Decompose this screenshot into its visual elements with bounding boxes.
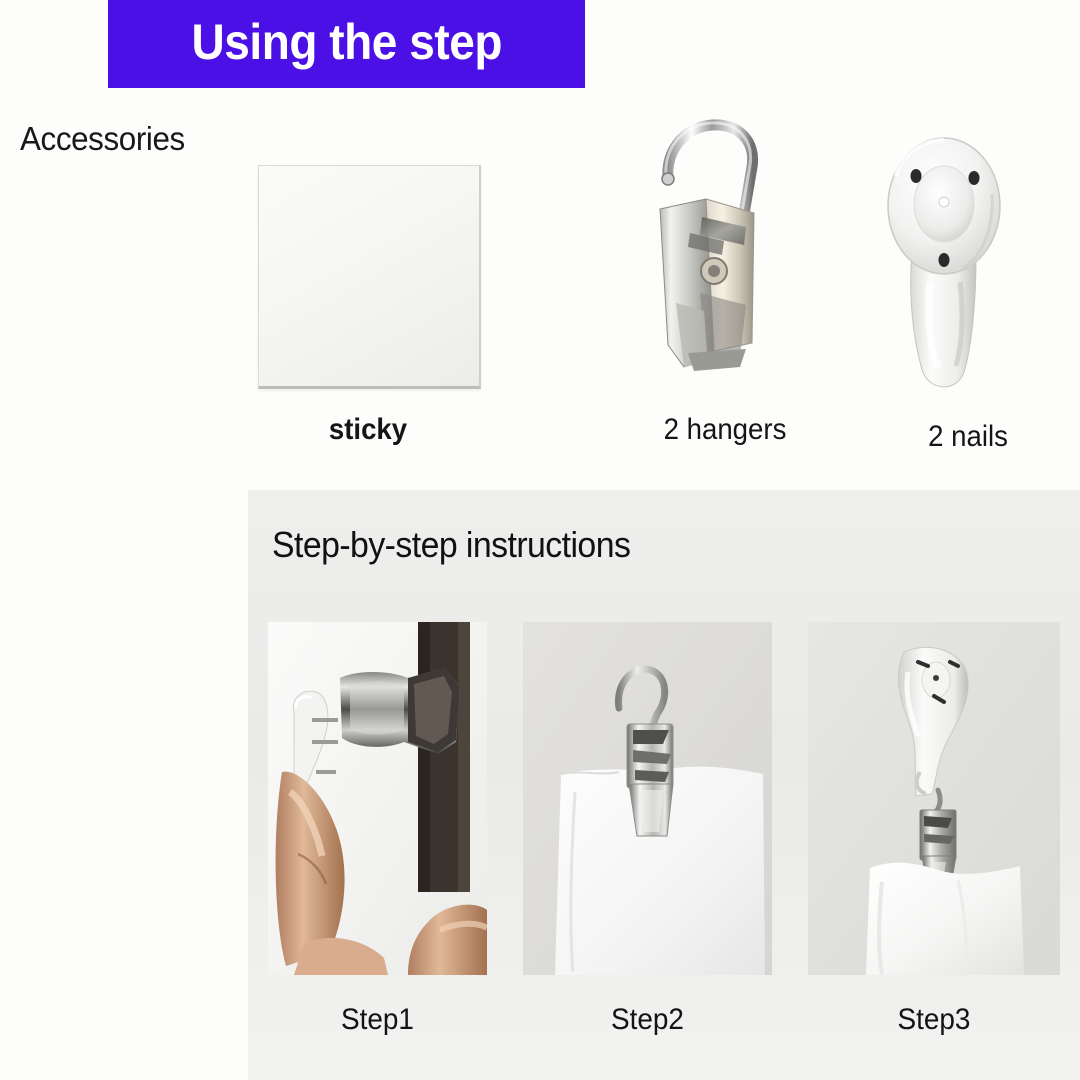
step-photo-3 <box>808 622 1060 975</box>
instructions-section-label: Step-by-step instructions <box>272 524 630 566</box>
page-title: Using the step <box>191 17 501 71</box>
accessory-caption-hangers: 2 hangers <box>633 413 817 447</box>
accessory-caption-sticky: sticky <box>276 413 460 447</box>
title-banner: Using the step <box>108 0 585 88</box>
instruction-sheet: Using the step Accessories sticky <box>0 0 1080 1080</box>
step-photo-1 <box>268 622 487 975</box>
adhesive-pad-icon <box>258 165 481 389</box>
step-photo-2 <box>523 622 772 975</box>
metal-hanger-clip-icon <box>628 105 818 400</box>
accessories-section-label: Accessories <box>20 120 185 158</box>
step-caption-2: Step2 <box>532 1003 764 1037</box>
step-caption-3: Step3 <box>817 1003 1051 1037</box>
step-caption-1: Step1 <box>276 1003 480 1037</box>
white-wall-hook-icon <box>872 132 1042 397</box>
accessory-caption-nails: 2 nails <box>885 420 1051 454</box>
